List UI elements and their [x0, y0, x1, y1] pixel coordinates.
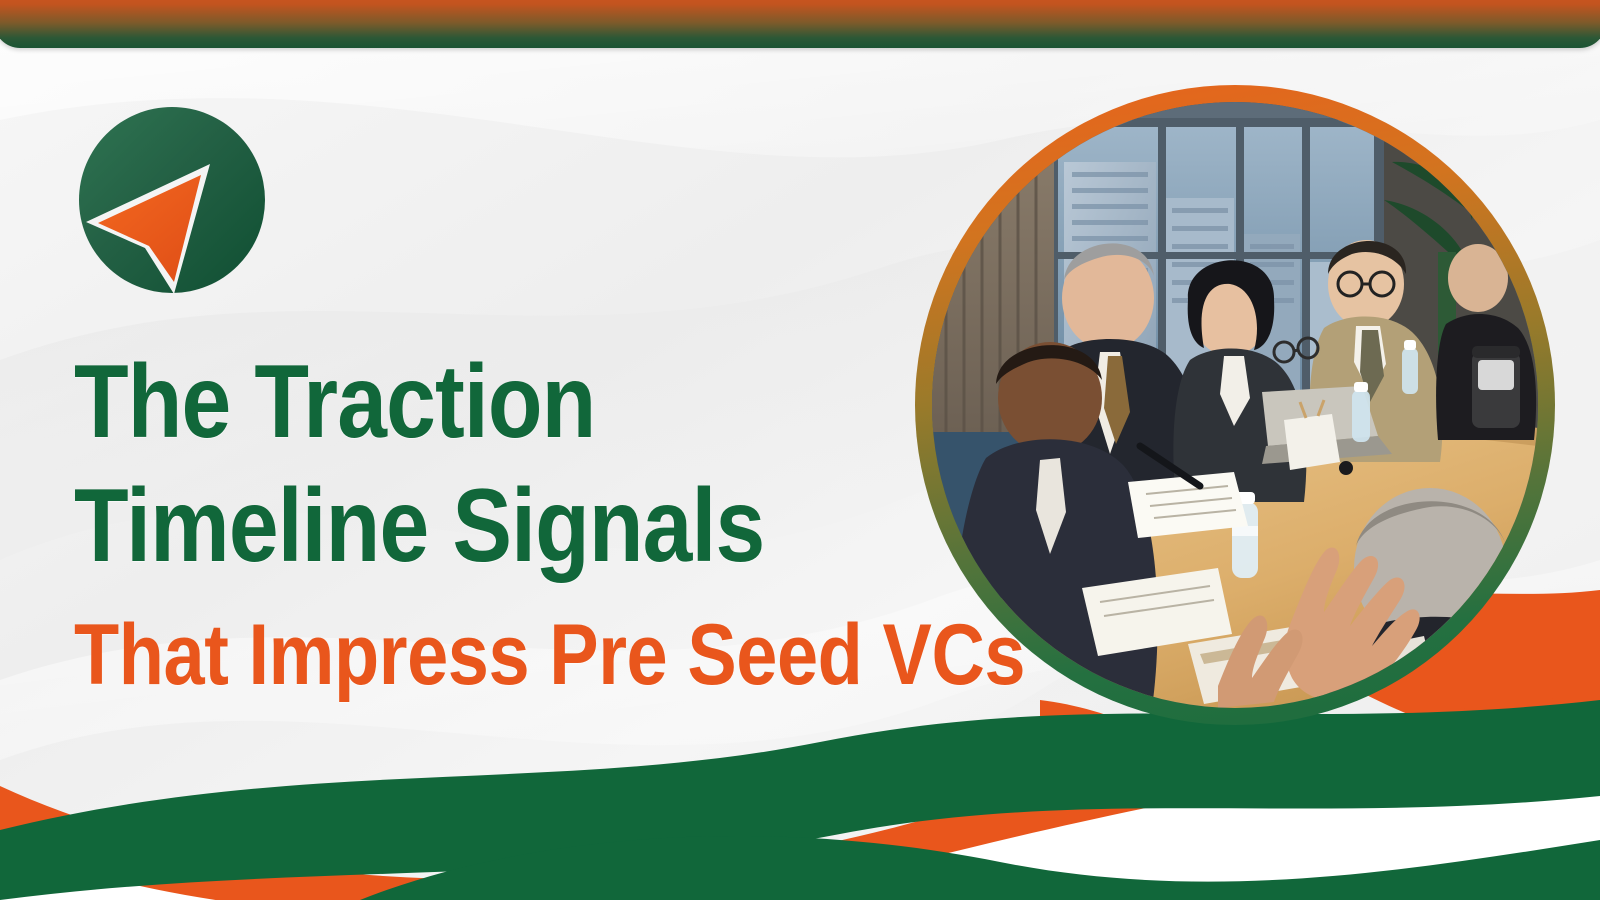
water-bottle-a	[1402, 340, 1418, 394]
desk-object	[1339, 461, 1353, 475]
carafe	[1472, 346, 1520, 428]
banner-canvas: The Traction Timeline Signals That Impre…	[0, 0, 1600, 900]
title-line-1: The Traction	[74, 352, 779, 454]
top-accent-bar	[0, 0, 1600, 48]
hero-photo	[932, 102, 1538, 708]
title-line-2: Timeline Signals	[74, 476, 779, 578]
logo-icon	[70, 98, 275, 303]
arrow-circle-logo[interactable]	[70, 98, 275, 303]
hero-photo-ring	[915, 85, 1555, 725]
meeting-room-illustration	[932, 102, 1538, 708]
subtitle-line: That Impress Pre Seed VCs	[74, 612, 779, 698]
headline-block: The Traction Timeline Signals That Impre…	[74, 352, 894, 698]
